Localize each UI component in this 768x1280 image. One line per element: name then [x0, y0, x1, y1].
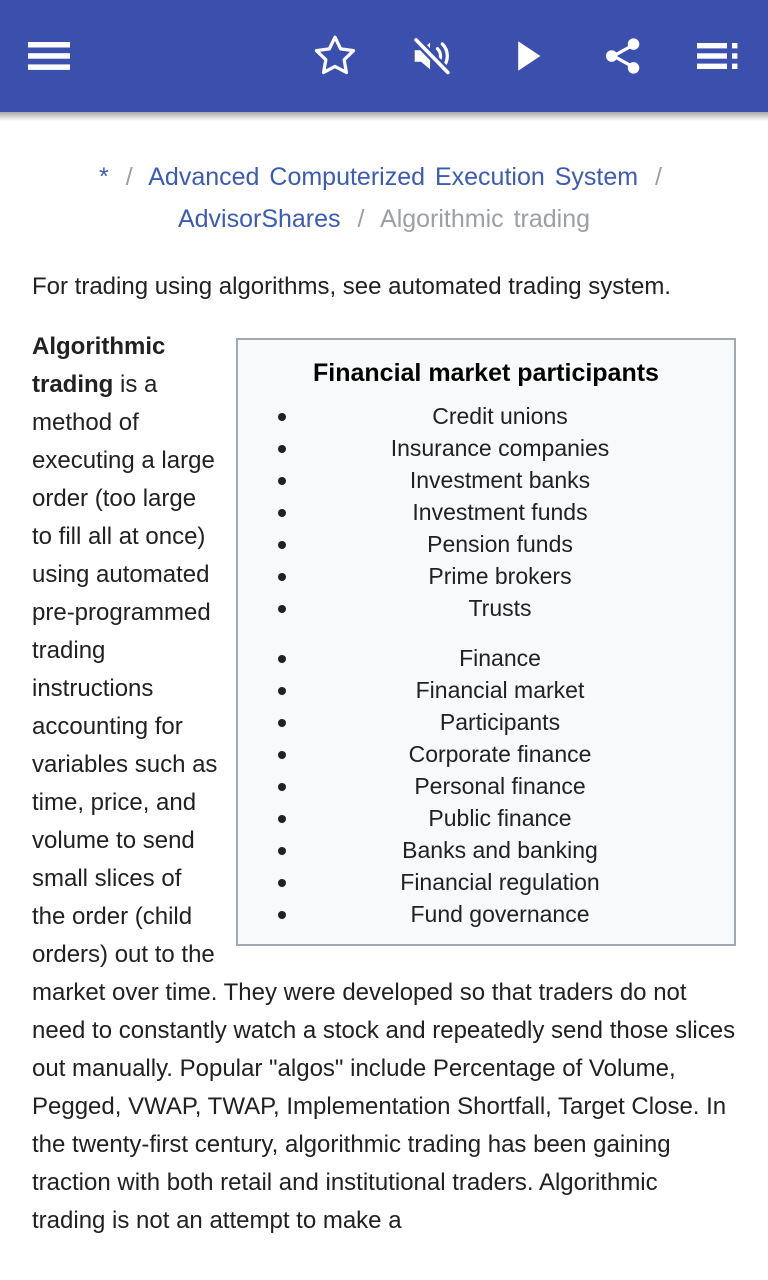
menu-button[interactable] [18, 25, 80, 87]
play-button[interactable] [496, 25, 558, 87]
breadcrumb-item-root[interactable]: * [99, 163, 109, 191]
breadcrumb-separator: / [119, 163, 140, 191]
menu-icon [28, 41, 70, 71]
breadcrumb-item-current: Algorithmic trading [380, 205, 590, 233]
page-content: * / Advanced Computerized Execution Syst… [0, 112, 768, 1264]
list-item[interactable]: Financial market [238, 674, 734, 706]
list-item[interactable]: Trusts [238, 592, 734, 624]
list-item[interactable]: Personal finance [238, 770, 734, 802]
list-item[interactable]: Participants [238, 706, 734, 738]
list-item[interactable]: Investment funds [238, 496, 734, 528]
star-outline-icon [312, 33, 358, 79]
list-item[interactable]: Credit unions [238, 400, 734, 432]
breadcrumb-separator: / [648, 163, 669, 191]
contents-button[interactable] [688, 25, 750, 87]
share-icon [600, 33, 646, 79]
list-item[interactable]: Pension funds [238, 528, 734, 560]
breadcrumb: * / Advanced Computerized Execution Syst… [32, 112, 736, 246]
hatnote: For trading using algorithms, see automa… [32, 270, 736, 304]
list-item[interactable]: Financial regulation [238, 866, 734, 898]
list-item[interactable]: Finance [238, 642, 734, 674]
breadcrumb-item-aces[interactable]: Advanced Computerized Execution System [148, 163, 638, 191]
share-button[interactable] [592, 25, 654, 87]
play-icon [504, 33, 550, 79]
list-item[interactable]: Fund governance [238, 898, 734, 930]
list-item[interactable]: Prime brokers [238, 560, 734, 592]
article-body: Financial market participants Credit uni… [32, 328, 736, 1264]
list-item[interactable]: Public finance [238, 802, 734, 834]
breadcrumb-item-advisorshares[interactable]: AdvisorShares [178, 205, 341, 233]
infobox-list-participants: Credit unions Insurance companies Invest… [238, 400, 734, 624]
list-item[interactable]: Corporate finance [238, 738, 734, 770]
watch-star-button[interactable] [304, 25, 366, 87]
breadcrumb-separator: / [350, 205, 371, 233]
volume-muted-icon [408, 33, 454, 79]
list-item[interactable]: Banks and banking [238, 834, 734, 866]
app-toolbar [0, 0, 768, 112]
list-item[interactable]: Insurance companies [238, 432, 734, 464]
list-item[interactable]: Investment banks [238, 464, 734, 496]
list-menu-icon [697, 40, 741, 72]
infobox-financial-market-participants: Financial market participants Credit uni… [236, 338, 736, 946]
mute-button[interactable] [400, 25, 462, 87]
infobox-list-finance-topics: Finance Financial market Participants Co… [238, 642, 734, 930]
infobox-title: Financial market participants [238, 352, 734, 400]
